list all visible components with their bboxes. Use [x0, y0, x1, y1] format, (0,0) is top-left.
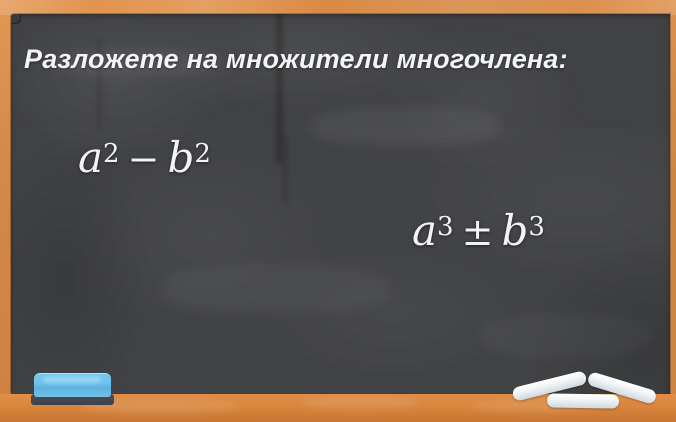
chalk-stick[interactable] — [547, 393, 619, 408]
expr2-exponent-b: 3 — [528, 212, 545, 242]
expr1-exponent-a: 2 — [103, 139, 120, 169]
expr1-exponent-b: 2 — [194, 139, 211, 169]
math-expression-1: a2−b2 — [78, 133, 211, 182]
board-corner-notch — [11, 14, 21, 24]
expr1-base-b: b — [167, 133, 194, 182]
expr2-base-a: a — [412, 206, 437, 255]
expr1-operator: − — [120, 137, 168, 181]
page-title: Разложете на множители многочлена: — [24, 44, 568, 75]
ledge-grain — [300, 397, 420, 409]
chalkboard-slide: Разложете на множители многочлена: a2−b2… — [0, 0, 676, 422]
sponge-highlight — [43, 376, 101, 383]
board-eraser-sponge[interactable] — [31, 373, 114, 405]
math-expression-2: a3±b3 — [412, 206, 545, 255]
expr1-base-a: a — [78, 133, 103, 182]
expr2-operator: ± — [454, 210, 502, 254]
sponge-body — [34, 373, 111, 397]
expr2-base-b: b — [501, 206, 528, 255]
expr2-exponent-a: 3 — [437, 212, 454, 242]
frame-top-highlight — [0, 0, 676, 15]
